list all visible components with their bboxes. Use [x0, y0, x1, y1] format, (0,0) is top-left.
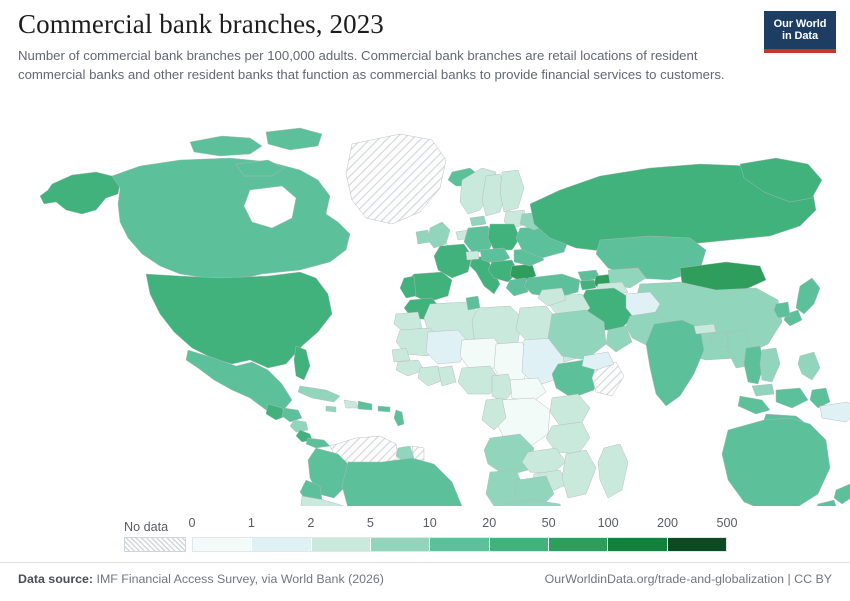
- legend-bin-1[interactable]: [252, 538, 311, 551]
- country-ireland[interactable]: [416, 230, 430, 244]
- legend-bin-2[interactable]: [312, 538, 371, 551]
- chart-header: Commercial bank branches, 2023 Number of…: [18, 8, 832, 84]
- legend-tick-5: 5: [367, 516, 374, 530]
- country-switzerland[interactable]: [466, 251, 479, 260]
- country-new-zealand-north[interactable]: [834, 484, 850, 504]
- country-honduras[interactable]: [282, 408, 302, 422]
- country-us-florida[interactable]: [294, 346, 310, 380]
- country-portugal[interactable]: [400, 276, 416, 298]
- legend-tick-100: 100: [598, 516, 619, 530]
- country-armenia[interactable]: [580, 280, 596, 290]
- legend-bin-8[interactable]: [668, 538, 726, 551]
- country-cuba[interactable]: [298, 386, 340, 402]
- chart-subtitle: Number of commercial bank branches per 1…: [18, 47, 730, 84]
- country-panama[interactable]: [306, 438, 330, 448]
- country-canada-arctic-2[interactable]: [266, 128, 322, 150]
- country-nepal[interactable]: [694, 324, 716, 334]
- legend-tick-10: 10: [423, 516, 437, 530]
- owid-map-chart: Commercial bank branches, 2023 Number of…: [0, 0, 850, 600]
- country-malaysia[interactable]: [752, 384, 774, 396]
- owid-logo[interactable]: Our World in Data: [764, 11, 836, 53]
- legend-tick-500: 500: [716, 516, 737, 530]
- legend-tick-labels: 0125102050100200500: [0, 516, 850, 536]
- legend-tick-200: 200: [657, 516, 678, 530]
- country-japan[interactable]: [796, 278, 820, 314]
- legend-color-bins[interactable]: [192, 537, 727, 552]
- legend-bin-3[interactable]: [371, 538, 430, 551]
- data-source-text: IMF Financial Access Survey, via World B…: [97, 572, 384, 586]
- world-map[interactable]: [0, 118, 850, 506]
- legend-bin-6[interactable]: [549, 538, 608, 551]
- country-denmark[interactable]: [470, 216, 486, 226]
- legend-tick-1: 1: [248, 516, 255, 530]
- country-alaska[interactable]: [40, 172, 120, 214]
- country-united-kingdom[interactable]: [428, 222, 450, 248]
- data-source: Data source: IMF Financial Access Survey…: [18, 572, 384, 586]
- country-indonesia-borneo[interactable]: [776, 388, 808, 408]
- owid-logo-line2: in Data: [782, 30, 818, 43]
- country-indonesia-sumatra[interactable]: [738, 396, 770, 414]
- legend-bin-4[interactable]: [430, 538, 489, 551]
- country-suriname[interactable]: [412, 446, 424, 460]
- country-poland[interactable]: [488, 224, 520, 250]
- country-peru[interactable]: [300, 496, 350, 506]
- legend-tick-2: 2: [307, 516, 314, 530]
- chart-footer: Data source: IMF Financial Access Survey…: [0, 562, 850, 601]
- country-canada-arctic-1[interactable]: [190, 136, 262, 156]
- country-mozambique[interactable]: [562, 450, 596, 498]
- country-madagascar[interactable]: [598, 444, 628, 498]
- country-uganda-kenya[interactable]: [550, 394, 590, 426]
- country-australia[interactable]: [722, 418, 830, 506]
- country-canada[interactable]: [112, 158, 350, 280]
- legend-tick-20: 20: [482, 516, 496, 530]
- country-greenland[interactable]: [346, 134, 446, 224]
- country-ghana[interactable]: [438, 366, 456, 386]
- country-brazil[interactable]: [342, 458, 462, 506]
- legend-bin-0[interactable]: [193, 538, 252, 551]
- page-title: Commercial bank branches, 2023: [18, 8, 832, 41]
- country-nicaragua[interactable]: [290, 420, 308, 432]
- legend-tick-50: 50: [542, 516, 556, 530]
- legend-tick-0: 0: [188, 516, 195, 530]
- owid-logo-line1: Our World: [774, 18, 827, 31]
- owid-logo-accent-bar: [764, 49, 836, 53]
- world-map-svg[interactable]: [0, 118, 850, 506]
- country-finland[interactable]: [500, 170, 524, 212]
- country-puerto-rico[interactable]: [378, 406, 390, 412]
- country-dominican-republic[interactable]: [358, 401, 372, 410]
- map-legend: No data 0125102050100200500: [0, 506, 850, 558]
- country-jamaica[interactable]: [326, 406, 336, 412]
- map-countries: [40, 128, 850, 506]
- attribution-link[interactable]: OurWorldinData.org/trade-and-globalizati…: [545, 572, 832, 586]
- legend-bin-7[interactable]: [608, 538, 667, 551]
- country-india[interactable]: [646, 320, 704, 406]
- country-haiti[interactable]: [344, 400, 358, 408]
- country-vietnam[interactable]: [760, 348, 780, 382]
- no-data-swatch[interactable]: [124, 537, 186, 552]
- country-lesser-antilles[interactable]: [394, 410, 404, 426]
- legend-bin-5[interactable]: [490, 538, 549, 551]
- country-philippines[interactable]: [798, 352, 820, 380]
- data-source-label: Data source:: [18, 572, 93, 586]
